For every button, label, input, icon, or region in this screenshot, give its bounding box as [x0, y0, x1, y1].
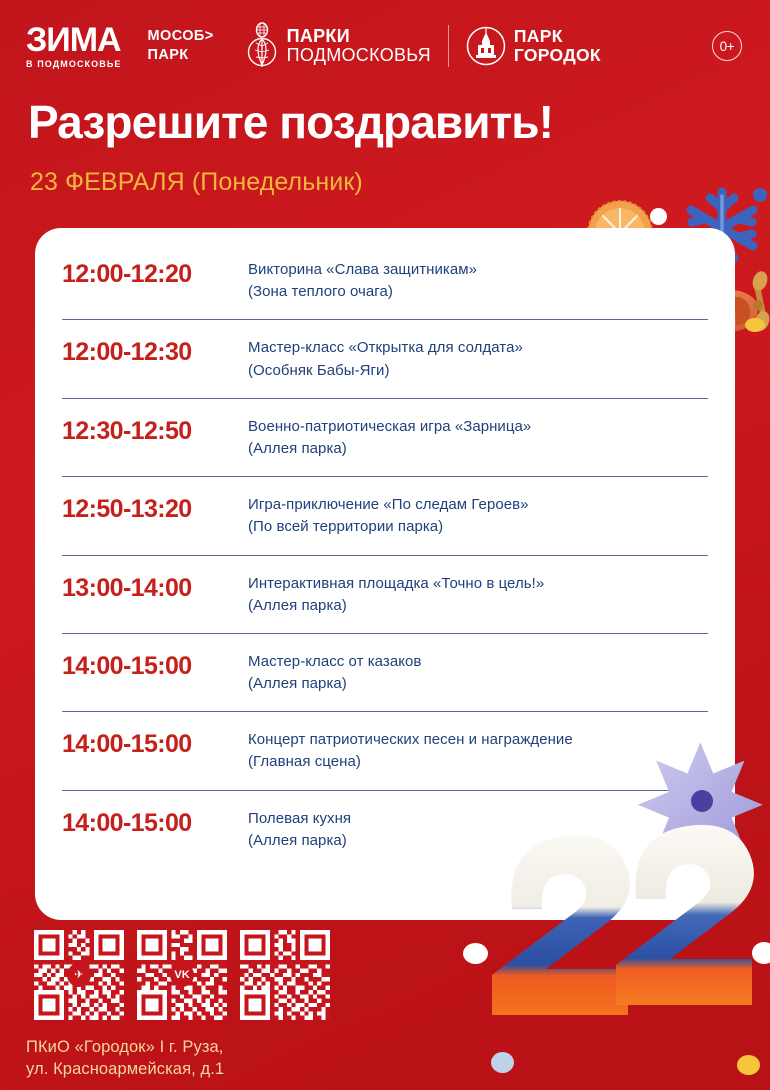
qr-pattern [240, 930, 330, 1020]
schedule-row: 12:30-12:50 Военно-патриотическая игра «… [62, 399, 708, 477]
logo-gorodok-text: ПАРК ГОРОДОК [514, 27, 601, 66]
logo-mosob-line1: МОСОБ> [148, 27, 214, 46]
age-rating-badge: 0+ [712, 31, 742, 61]
schedule-description: Викторина «Слава защитникам» (Зона тепло… [248, 259, 708, 303]
decor-dot-yellow-2 [737, 1055, 760, 1075]
schedule-description: Интерактивная площадка «Точно в цель!» (… [248, 573, 708, 617]
decor-dot-white-2 [463, 943, 488, 964]
schedule-time: 12:00-12:30 [62, 337, 248, 365]
logo-mosob-line2: ПАРК [148, 46, 214, 65]
vk-icon: VK [170, 963, 194, 987]
schedule-event: Мастер-класс «Открытка для солдата» [248, 339, 523, 356]
schedule-event: Военно-патриотическая игра «Зарница» [248, 418, 531, 435]
decor-dot-blue-small [753, 188, 767, 202]
logo-mosobl-park[interactable]: МОСОБ> ПАРК [148, 27, 214, 64]
page-title: Разрешите поздравить! [28, 98, 553, 146]
pinecone-leaf-icon [244, 22, 280, 70]
logo-park-gorodok[interactable]: ПАРК ГОРОДОК [466, 26, 601, 66]
schedule-row: 12:00-12:20 Викторина «Слава защитникам»… [62, 242, 708, 320]
schedule-time: 12:50-13:20 [62, 494, 248, 522]
schedule-row: 12:50-13:20 Игра-приключение «По следам … [62, 477, 708, 555]
logo-zima-word: ЗИМА [26, 23, 121, 57]
schedule-event: Полевая кухня [248, 810, 351, 827]
decor-dot-lightblue-3 [491, 1052, 514, 1073]
schedule-description: Военно-патриотическая игра «Зарница» (Ал… [248, 416, 708, 460]
logo-parki-text: ПАРКИ ПОДМОСКОВЬЯ [287, 27, 431, 66]
logo-zima-sub: В ПОДМОСКОВЬЕ [26, 60, 122, 69]
schedule-row: 12:00-12:30 Мастер-класс «Открытка для с… [62, 320, 708, 398]
schedule-event: Игра-приключение «По следам Героев» [248, 496, 529, 513]
schedule-place: (Аллея парка) [248, 438, 708, 460]
address-block: ПКиО «Городок» I г. Руза, ул. Красноарме… [26, 1036, 224, 1080]
logo-parki-podmoskovya[interactable]: ПАРКИ ПОДМОСКОВЬЯ [244, 22, 431, 70]
schedule-place: (По всей территории парка) [248, 516, 708, 538]
logo-divider [448, 25, 449, 67]
schedule-event: Мастер-класс от казаков [248, 653, 421, 670]
logo-gorodok-line2: ГОРОДОК [514, 46, 601, 65]
schedule-place: (Особняк Бабы-Яги) [248, 360, 708, 382]
schedule-description: Мастер-класс «Открытка для солдата» (Осо… [248, 337, 708, 381]
header: ЗИМА В ПОДМОСКОВЬЕ МОСОБ> ПАРК [0, 0, 770, 92]
schedule-row: 13:00-14:00 Интерактивная площадка «Точн… [62, 556, 708, 634]
schedule-place: (Аллея парка) [248, 673, 708, 695]
vk-glyph: VK [174, 970, 189, 981]
logo-parki-line1: ПАРКИ [287, 27, 431, 46]
address-line-2: ул. Красноармейская, д.1 [26, 1058, 224, 1080]
website-qr[interactable] [240, 930, 330, 1020]
telegram-qr[interactable]: ✈ [34, 930, 124, 1020]
logo-parki-line2: ПОДМОСКОВЬЯ [287, 46, 431, 65]
page-subtitle-date: 23 ФЕВРАЛЯ (Понедельник) [30, 168, 363, 197]
schedule-place: (Аллея парка) [248, 595, 708, 617]
qr-code-group: ✈ [34, 930, 330, 1020]
decor-dot-white [650, 208, 667, 225]
schedule-time: 13:00-14:00 [62, 573, 248, 601]
poster: ЗИМА В ПОДМОСКОВЬЕ МОСОБ> ПАРК [0, 0, 770, 1090]
decor-dot-yellow [745, 318, 765, 332]
logo-zima-v-podmoskovye[interactable]: ЗИМА В ПОДМОСКОВЬЕ [26, 23, 122, 69]
schedule-description: Мастер-класс от казаков (Аллея парка) [248, 651, 708, 695]
schedule-description: Игра-приключение «По следам Героев» (По … [248, 494, 708, 538]
address-line-1: ПКиО «Городок» I г. Руза, [26, 1036, 224, 1058]
schedule-time: 12:00-12:20 [62, 259, 248, 287]
schedule-place: (Зона теплого очага) [248, 281, 708, 303]
schedule-time: 14:00-15:00 [62, 729, 248, 757]
schedule-event: Викторина «Слава защитникам» [248, 261, 477, 278]
telegram-glyph: ✈ [74, 970, 83, 981]
schedule-time: 14:00-15:00 [62, 808, 248, 836]
numerals-23-decor [490, 725, 770, 1055]
schedule-row: 14:00-15:00 Мастер-класс от казаков (Алл… [62, 634, 708, 712]
logo-gorodok-line1: ПАРК [514, 27, 601, 46]
tower-icon [466, 26, 506, 66]
schedule-time: 14:00-15:00 [62, 651, 248, 679]
telegram-icon: ✈ [67, 963, 91, 987]
schedule-time: 12:30-12:50 [62, 416, 248, 444]
schedule-event: Интерактивная площадка «Точно в цель!» [248, 575, 544, 592]
vk-qr[interactable]: VK [137, 930, 227, 1020]
